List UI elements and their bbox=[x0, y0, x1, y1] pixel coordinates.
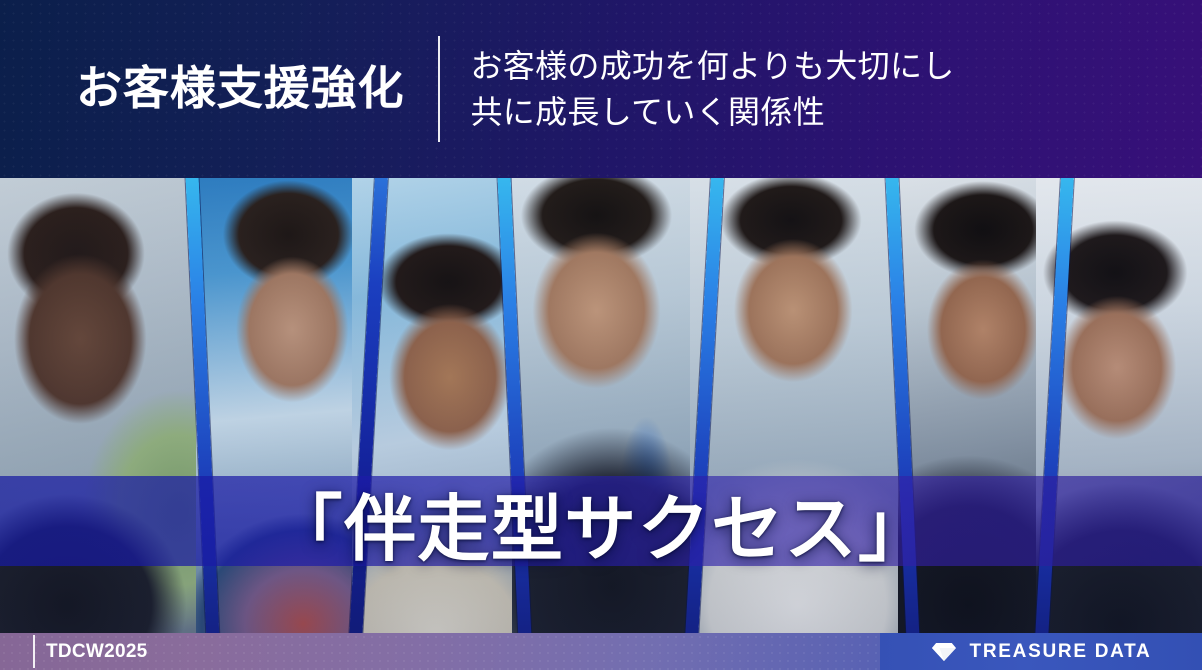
header-subtitle-line-2: 共に成長していく関係性 bbox=[470, 89, 954, 135]
header-title: お客様支援強化 bbox=[76, 63, 404, 115]
header-subtitle-line-1: お客様の成功を何よりも大切にし bbox=[470, 43, 954, 89]
footer-accent-tick bbox=[33, 635, 35, 668]
brand-name: TREASURE DATA bbox=[970, 641, 1152, 663]
header-content: お客様支援強化 お客様の成功を何よりも大切にし 共に成長していく関係性 bbox=[76, 0, 955, 178]
header-vertical-divider bbox=[438, 36, 440, 142]
slide-footer: TDCW2025 TREASURE DATA bbox=[0, 633, 1202, 670]
main-title: 「伴走型サクセス」 bbox=[0, 470, 1202, 574]
header-subtitle-block: お客様の成功を何よりも大切にし 共に成長していく関係性 bbox=[470, 43, 954, 136]
footer-event-label: TDCW2025 bbox=[46, 633, 148, 670]
slide-header: お客様支援強化 お客様の成功を何よりも大切にし 共に成長していく関係性 bbox=[0, 0, 1202, 178]
presentation-slide: お客様支援強化 お客様の成功を何よりも大切にし 共に成長していく関係性 bbox=[0, 0, 1202, 670]
brand-lockup: TREASURE DATA bbox=[880, 633, 1202, 670]
diamond-icon bbox=[931, 642, 957, 662]
